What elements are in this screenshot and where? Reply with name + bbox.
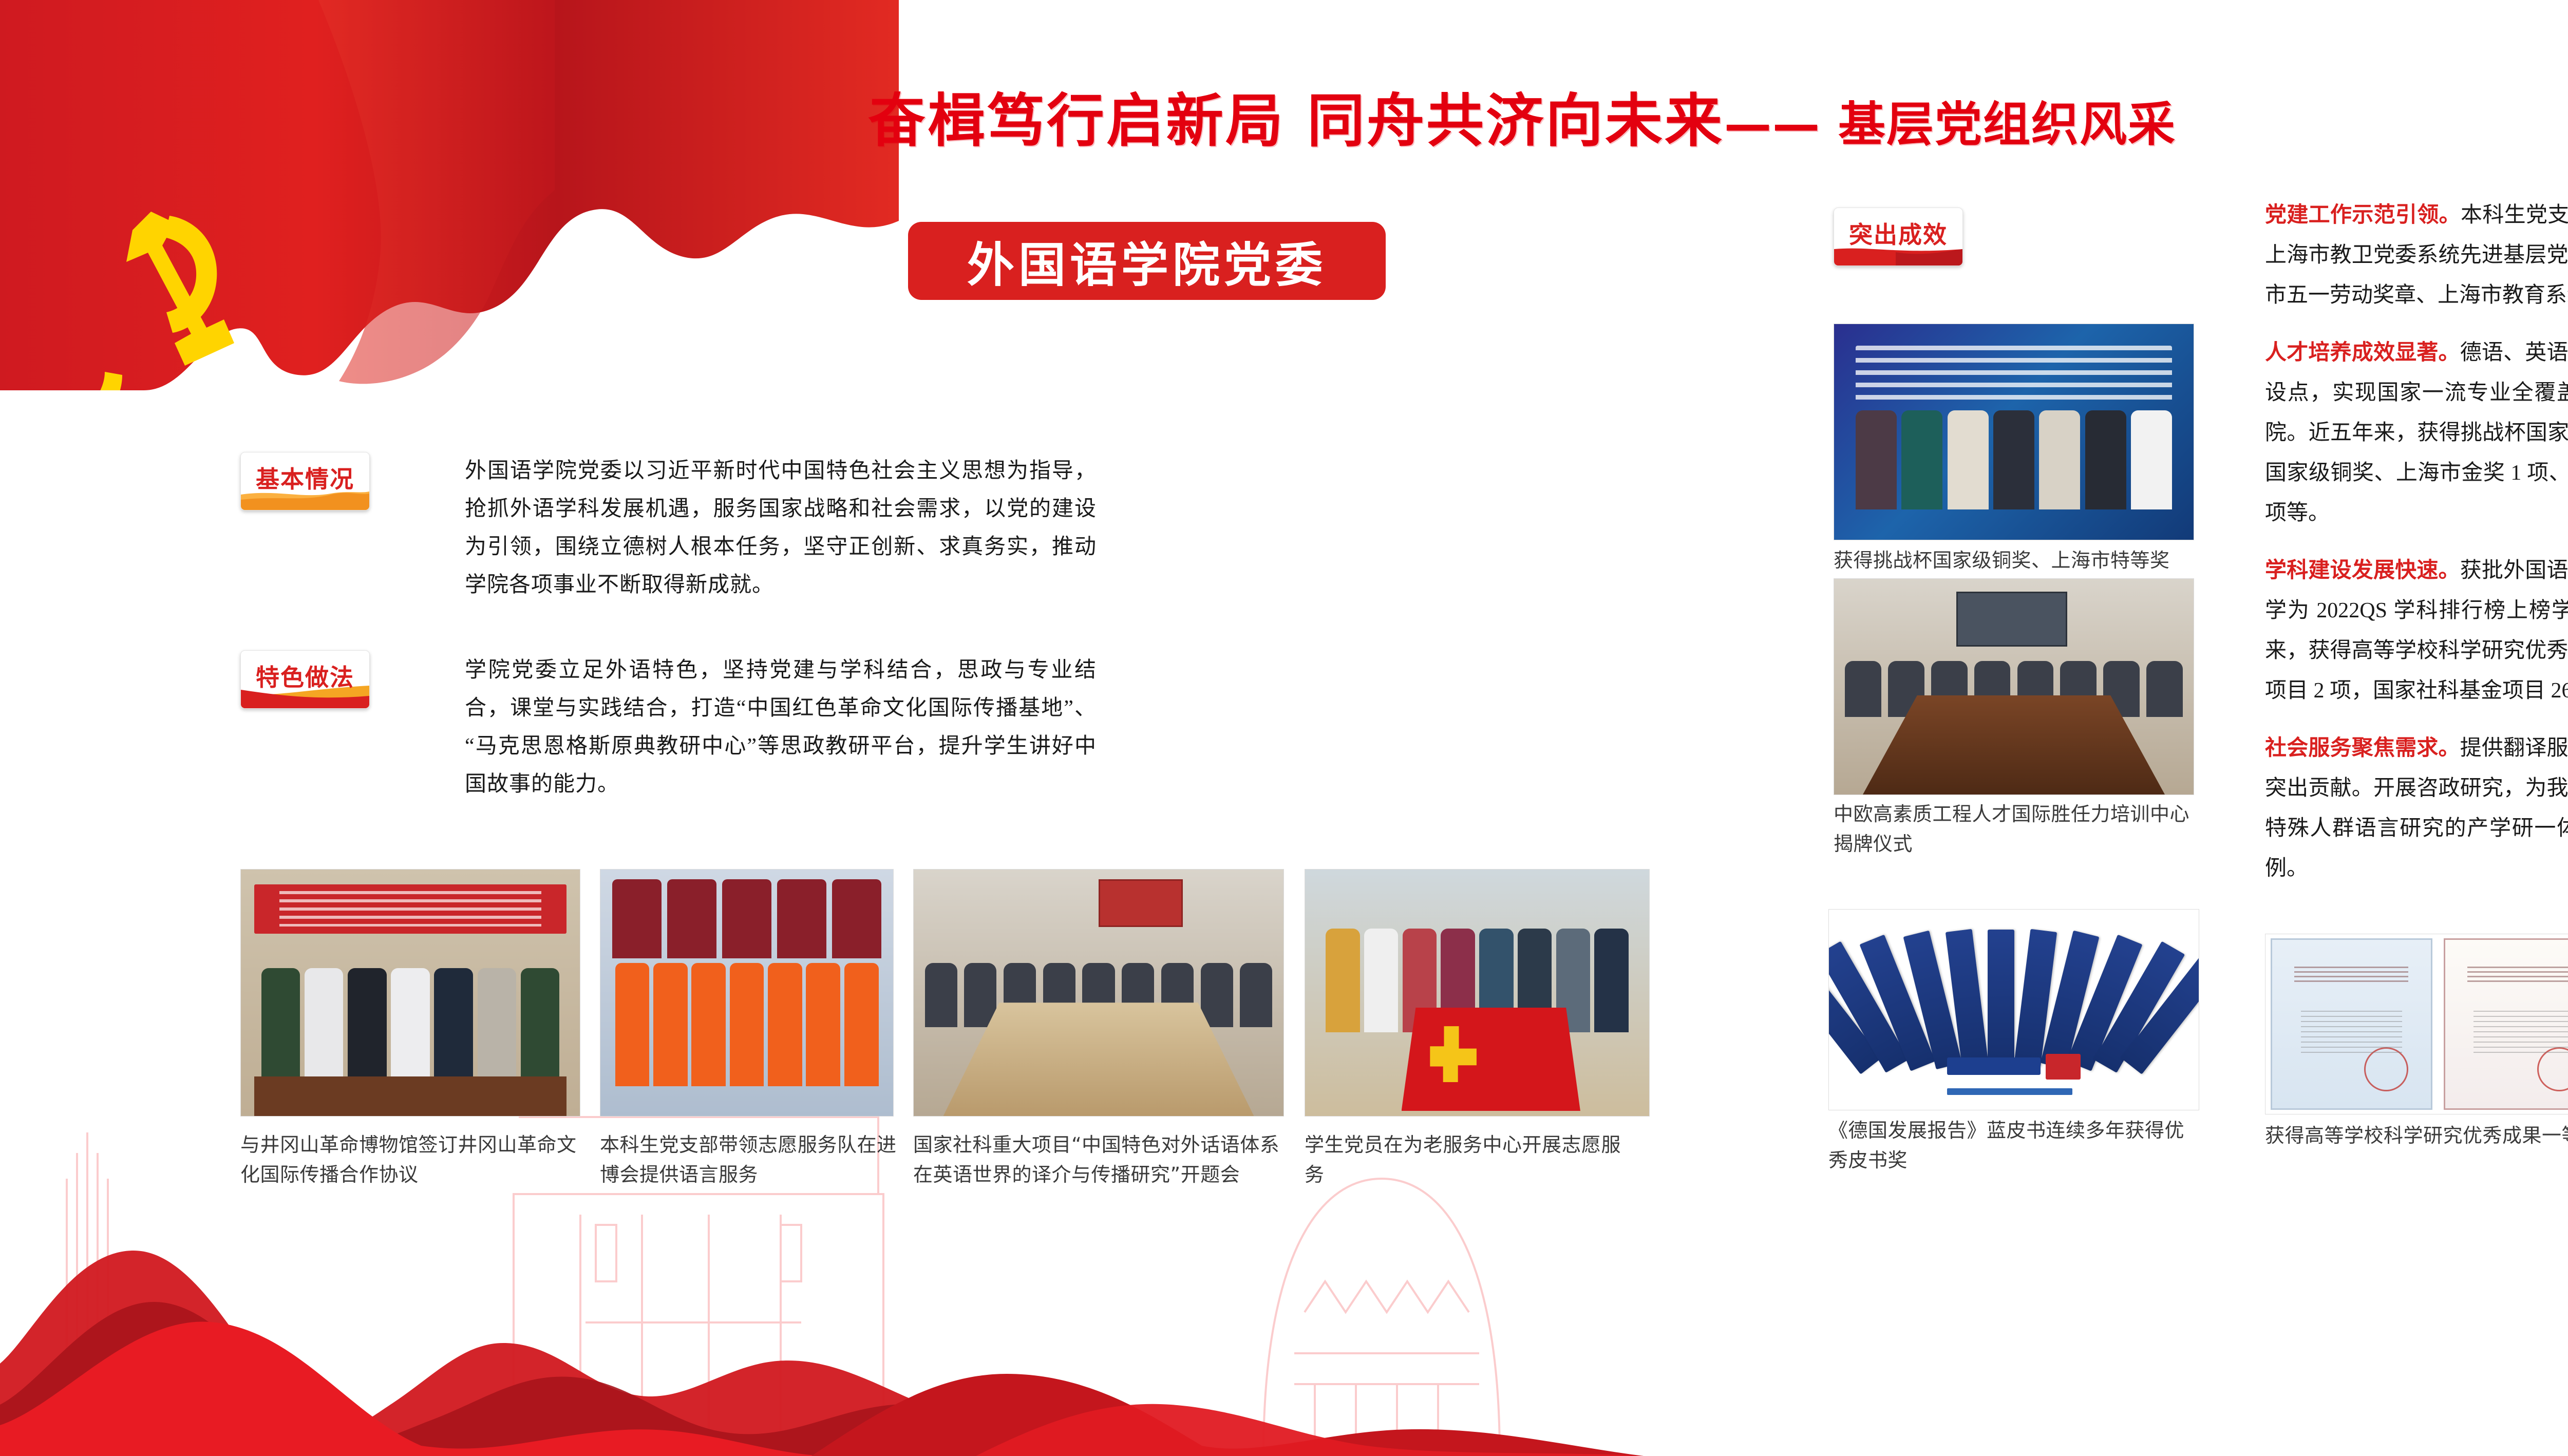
photo-caption: 获得高等学校科学研究优秀成果一等奖、上海市五一劳动奖章等奖项和荣誉	[2265, 1121, 2568, 1150]
effect-lead: 人才培养成效显著。	[2265, 341, 2460, 365]
effect-lead: 社会服务聚焦需求。	[2265, 736, 2460, 760]
photo-training-center-ceremony	[1834, 578, 2194, 795]
section-tag-basic-label: 基本情况	[241, 461, 369, 495]
effect-body: 德语、英语、日语专业先后获批国家一流本科专业建设点，实现国家一流专业全覆盖。获批…	[2265, 341, 2568, 525]
hammer-sickle-icon	[93, 212, 234, 390]
photo-challenge-cup	[1834, 324, 2194, 540]
effect-paragraph: 社会服务聚焦需求。提供翻译服务，为构建融通中外的对外话语体系做出突出贡献。开展咨…	[2265, 728, 2568, 888]
section-text-method: 学院党委立足外语特色，坚持党建与学科结合，思政与专业结合，课堂与实践结合，打造“…	[465, 651, 1097, 803]
photo-ciie-volunteers	[600, 869, 894, 1117]
section-tag-effect: 突出成效	[1834, 207, 1963, 266]
party-flag-decoration	[0, 0, 899, 390]
unit-badge: 外国语学院党委	[908, 222, 1386, 300]
section-tag-basic: 基本情况	[240, 452, 370, 510]
unit-badge-label: 外国语学院党委	[967, 227, 1327, 295]
photo-caption: 中欧高素质工程人才国际胜任力培训中心揭牌仪式	[1834, 799, 2198, 859]
photo-germany-blue-book	[1828, 909, 2199, 1110]
section-tag-method-label: 特色做法	[241, 659, 369, 693]
poster-canvas: 奋楫笃行启新局 同舟共济向未来—— 基层党组织风采 外国语学院党委 基本情况 外…	[0, 0, 2568, 1456]
photo-elderly-service-volunteers	[1305, 869, 1650, 1117]
effect-lead: 党建工作示范引领。	[2265, 203, 2461, 227]
photo-project-kickoff	[913, 869, 1284, 1117]
effect-lead: 学科建设发展快速。	[2265, 559, 2460, 582]
section-tag-method: 特色做法	[240, 650, 370, 709]
photo-caption: 《德国发展报告》蓝皮书连续多年获得优秀皮书奖	[1828, 1115, 2198, 1175]
effect-paragraphs: 党建工作示范引领。本科生党支部入选第二批“全国党建工作样板支部”、上海市教卫党委…	[2265, 195, 2568, 906]
photo-caption: 获得挑战杯国家级铜奖、上海市特等奖	[1834, 545, 2198, 575]
page-title: 奋楫笃行启新局 同舟共济向未来—— 基层党组织风采	[868, 74, 2176, 158]
photo-caption: 本科生党支部带领志愿服务队在进博会提供语言服务	[600, 1130, 898, 1189]
photo-award-certificates	[2265, 934, 2568, 1114]
effect-paragraph: 学科建设发展快速。获批外国语言文学一级学科博士后流动站，现代语言学为 2022Q…	[2265, 551, 2568, 711]
section-text-basic: 外国语学院党委以习近平新时代中国特色社会主义思想为指导，抢抓外语学科发展机遇，服…	[465, 452, 1097, 604]
effect-paragraph: 党建工作示范引领。本科生党支部入选第二批“全国党建工作样板支部”、上海市教卫党委…	[2265, 195, 2568, 315]
section-tag-effect-label: 突出成效	[1834, 216, 1962, 250]
page-title-sub: —— 基层党组织风采	[1724, 97, 2176, 152]
photo-caption: 国家社科重大项目“中国特色对外话语体系在英语世界的译介与传播研究”开题会	[913, 1130, 1283, 1189]
photo-caption: 与井冈山革命博物馆签订井冈山革命文化国际传播合作协议	[240, 1130, 579, 1189]
page-title-main: 奋楫笃行启新局 同舟共济向未来	[868, 88, 1724, 155]
photo-caption: 学生党员在为老服务中心开展志愿服务	[1305, 1130, 1633, 1189]
effect-paragraph: 人才培养成效显著。德语、英语、日语专业先后获批国家一流本科专业建设点，实现国家一…	[2265, 333, 2568, 533]
photo-jinggangshan-signing	[240, 869, 580, 1117]
